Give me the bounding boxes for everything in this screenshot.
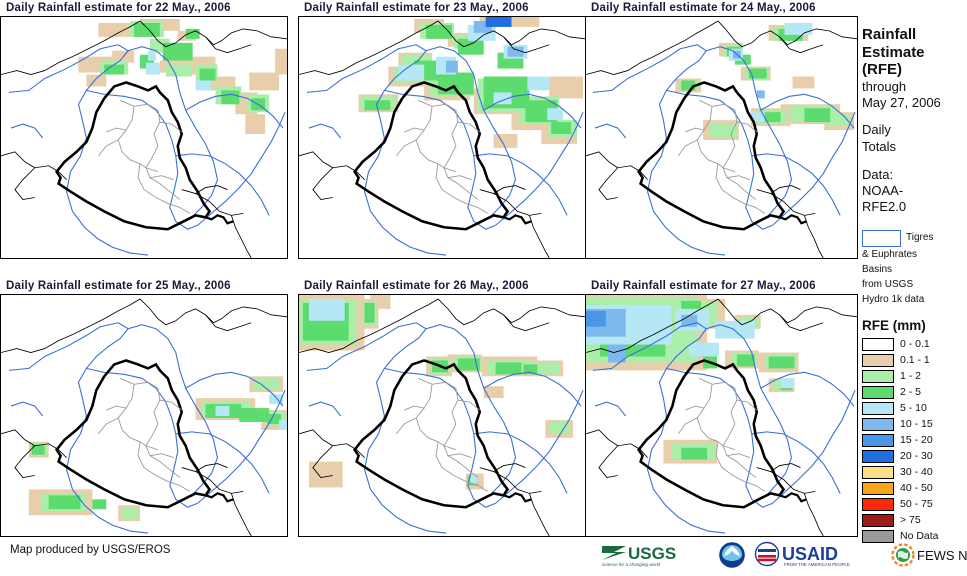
legend-item: 5 - 10	[862, 401, 967, 416]
basin-outline-1	[9, 45, 285, 255]
legend-swatch	[862, 338, 894, 351]
legend-swatch	[862, 434, 894, 447]
basin-label-2: & Euphrates	[862, 248, 967, 262]
usaid-logo: USAID FROM THE AMERICAN PEOPLE	[754, 540, 882, 570]
map-canvas-3[interactable]	[585, 16, 858, 259]
legend-label: 5 - 10	[900, 402, 927, 414]
agency-logos: USGS science for a changing world USAID …	[600, 540, 967, 570]
through-date: May 27, 2006	[862, 95, 967, 111]
rfe-raster-2	[299, 17, 585, 258]
totals-line2: Totals	[862, 139, 967, 155]
legend-label: 40 - 50	[900, 482, 933, 494]
legend-item: > 75	[862, 513, 967, 528]
legend-item: 1 - 2	[862, 369, 967, 384]
legend-swatch	[862, 466, 894, 479]
svg-text:FROM THE AMERICAN PEOPLE: FROM THE AMERICAN PEOPLE	[784, 562, 850, 567]
iraq-border-5	[355, 360, 508, 507]
noaa-logo-icon	[719, 542, 745, 568]
legend-swatch	[862, 402, 894, 415]
map-canvas-5[interactable]	[298, 294, 586, 537]
basin-outline-5	[307, 323, 583, 533]
rfe-heading-line3: (RFE)	[862, 61, 967, 79]
totals-line1: Daily	[862, 122, 967, 138]
legend-item: 40 - 50	[862, 481, 967, 496]
legend-swatch	[862, 354, 894, 367]
noaa-logo	[719, 540, 745, 570]
coast-kuwait-3	[780, 215, 807, 223]
legend-label: > 75	[900, 514, 921, 526]
coast-kuwait-6	[780, 493, 807, 501]
legend-rows: 0 - 0.10.1 - 11 - 22 - 55 - 1010 - 1515 …	[862, 337, 967, 544]
rfe-raster-5	[299, 295, 585, 536]
legend-label: 20 - 30	[900, 450, 933, 462]
data-source-line1: Data:	[862, 167, 967, 183]
usgs-logo-icon: USGS science for a changing world	[600, 541, 710, 569]
totals-block: Daily Totals	[862, 122, 967, 155]
map-credit: Map produced by USGS/EROS	[10, 544, 170, 556]
panel-title-2: Daily Rainfall estimate for 23 May., 200…	[304, 2, 586, 14]
svg-text:USAID: USAID	[782, 544, 838, 564]
rfe-heading-line1: Rainfall	[862, 26, 967, 44]
legend-label: 30 - 40	[900, 466, 933, 478]
legend-label: 0.1 - 1	[900, 354, 930, 366]
legend-item: 50 - 75	[862, 497, 967, 512]
panel-title-5: Daily Rainfall estimate for 26 May., 200…	[304, 280, 586, 292]
coast-kuwait-5	[504, 493, 532, 501]
rfe-cells-1	[78, 19, 287, 134]
panel-title-1: Daily Rainfall estimate for 22 May., 200…	[6, 2, 288, 14]
legend-item: 20 - 30	[862, 449, 967, 464]
panel-title-3: Daily Rainfall estimate for 24 May., 200…	[591, 2, 858, 14]
basin-outline-6	[593, 323, 855, 533]
map-canvas-6[interactable]	[585, 294, 858, 537]
basin-label-3: Basins	[862, 263, 967, 277]
iraq-border-4	[57, 360, 210, 507]
legend-swatch	[862, 386, 894, 399]
through-label: through	[862, 79, 967, 95]
legend-label: 0 - 0.1	[900, 338, 930, 350]
data-source-line2: NOAA-	[862, 183, 967, 199]
basin-label-5: Hydro 1k data	[862, 293, 967, 307]
legend-swatch	[862, 450, 894, 463]
svg-text:FEWS NET: FEWS NET	[917, 548, 967, 563]
legend-item: 0 - 0.1	[862, 337, 967, 352]
legend-swatch	[862, 370, 894, 383]
data-source-line3: RFE2.0	[862, 199, 967, 215]
rfe-legend: RFE (mm) 0 - 0.10.1 - 11 - 22 - 55 - 101…	[862, 318, 967, 544]
legend-item: 30 - 40	[862, 465, 967, 480]
fewsnet-logo-icon: FEWS NET	[891, 542, 967, 568]
rfe-cells-5	[299, 295, 573, 489]
coast-kuwait-2	[504, 215, 532, 223]
map-canvas-2[interactable]	[298, 16, 586, 259]
legend-swatch	[862, 514, 894, 527]
map-canvas-1[interactable]	[0, 16, 288, 259]
map-panel-2: Daily Rainfall estimate for 23 May., 200…	[298, 2, 586, 259]
legend-label: 15 - 20	[900, 434, 933, 446]
legend-swatch	[862, 498, 894, 511]
rfe-raster-3	[586, 17, 857, 258]
coast-kuwait-4	[206, 493, 234, 501]
iraq-border-3	[639, 82, 784, 229]
legend-label: 2 - 5	[900, 386, 921, 398]
legend-item: 10 - 15	[862, 417, 967, 432]
basin-legend: Tigres & Euphrates Basins from USGS Hydr…	[862, 230, 967, 302]
map-panel-1: Daily Rainfall estimate for 22 May., 200…	[0, 2, 288, 259]
iraq-border-6	[639, 360, 784, 507]
svg-text:USGS: USGS	[628, 544, 676, 563]
rfe-cells-2	[359, 17, 583, 148]
info-sidebar: Rainfall Estimate (RFE) through May 27, …	[862, 0, 967, 576]
rfe-raster-4	[1, 295, 287, 536]
map-panel-3: Daily Rainfall estimate for 24 May., 200…	[585, 2, 858, 259]
fewsnet-logo: FEWS NET	[891, 540, 967, 570]
rfe-cells-3	[675, 23, 854, 140]
legend-title: RFE (mm)	[862, 318, 967, 333]
rfe-raster-6	[586, 295, 857, 536]
rfe-map-page: Daily Rainfall estimate for 22 May., 200…	[0, 0, 967, 576]
legend-label: 1 - 2	[900, 370, 921, 382]
rfe-cells-4	[29, 376, 287, 521]
rfe-raster-1	[1, 17, 287, 258]
legend-swatch	[862, 482, 894, 495]
legend-item: 2 - 5	[862, 385, 967, 400]
iraq-border-1	[57, 82, 210, 229]
rfe-cells-6	[586, 295, 798, 464]
legend-item: 15 - 20	[862, 433, 967, 448]
legend-swatch	[862, 418, 894, 431]
map-panel-4: Daily Rainfall estimate for 25 May., 200…	[0, 280, 288, 537]
usaid-logo-icon: USAID FROM THE AMERICAN PEOPLE	[754, 541, 882, 569]
rfe-heading-line2: Estimate	[862, 44, 967, 62]
legend-item: 0.1 - 1	[862, 353, 967, 368]
map-canvas-4[interactable]	[0, 294, 288, 537]
panel-title-4: Daily Rainfall estimate for 25 May., 200…	[6, 280, 288, 292]
panel-title-6: Daily Rainfall estimate for 27 May., 200…	[591, 280, 858, 292]
svg-text:science for a changing world: science for a changing world	[602, 562, 661, 567]
map-panel-6: Daily Rainfall estimate for 27 May., 200…	[585, 280, 858, 537]
basin-outline-3	[593, 45, 855, 255]
rfe-heading: Rainfall Estimate (RFE)	[862, 26, 967, 79]
legend-label: 10 - 15	[900, 418, 933, 430]
legend-label: 50 - 75	[900, 498, 933, 510]
coast-kuwait-1	[206, 215, 234, 223]
basin-legend-row: Tigres	[862, 230, 967, 247]
data-source-block: Data: NOAA- RFE2.0	[862, 167, 967, 216]
basin-outline-swatch	[862, 230, 901, 247]
basin-label-1: Tigres	[906, 231, 933, 245]
usgs-logo: USGS science for a changing world	[600, 540, 710, 570]
basin-label-4: from USGS	[862, 278, 967, 292]
map-panel-5: Daily Rainfall estimate for 26 May., 200…	[298, 280, 586, 537]
